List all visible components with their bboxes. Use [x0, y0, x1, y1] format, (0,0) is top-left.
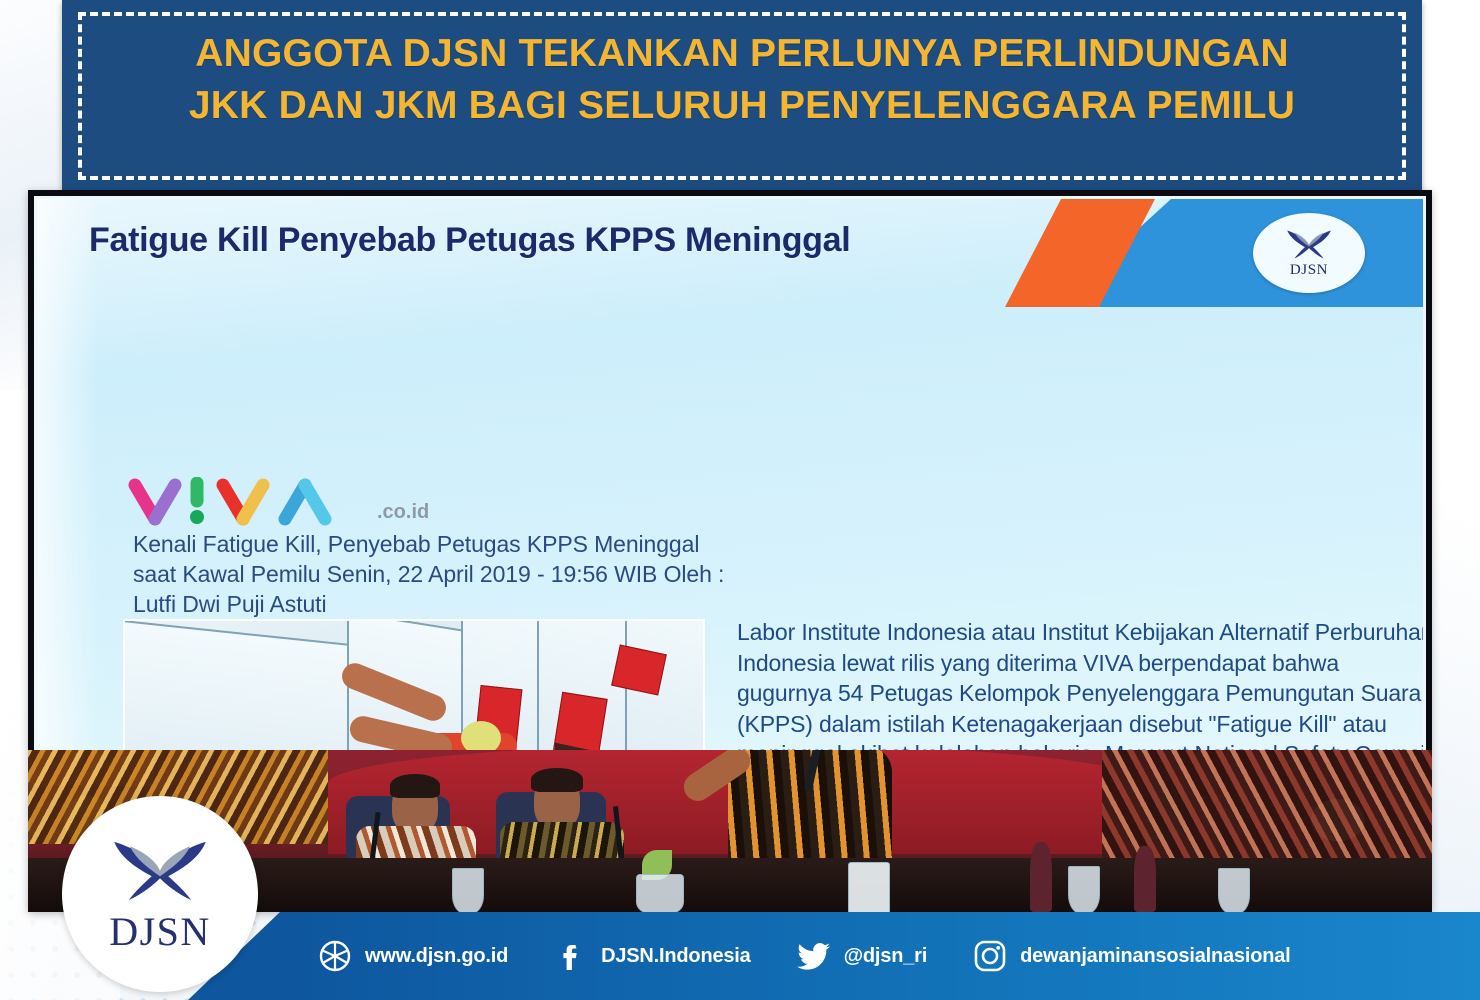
slide-caption-line-1: Kenali Fatigue Kill, Penyebab Petugas KP…: [133, 529, 833, 559]
presentation-slide: DJSN Fatigue Kill Penyebab Petugas KPPS …: [34, 196, 1426, 796]
slide-caption-line-2: saat Kawal Pemilu Senin, 22 April 2019 -…: [133, 559, 833, 589]
panelist-hair: [390, 774, 440, 798]
vase: [636, 874, 684, 912]
viva-logo: .co.id: [125, 477, 429, 527]
bottle: [1134, 846, 1156, 912]
djsn-wordmark: DJSN: [109, 908, 211, 955]
footer-item-twitter[interactable]: @djsn_ri: [797, 939, 927, 973]
drinking-glass: [1218, 868, 1250, 912]
footer-item-facebook[interactable]: DJSN.Indonesia: [554, 939, 750, 973]
tissue-box: [848, 862, 890, 912]
slide-djsn-wordmark: DJSN: [1290, 262, 1328, 279]
instagram-icon: [973, 939, 1007, 973]
djsn-logo-badge: DJSN: [62, 796, 258, 992]
slide-title: Fatigue Kill Penyebab Petugas KPPS Menin…: [89, 221, 850, 260]
bottle: [1030, 842, 1052, 912]
footer-label: www.djsn.go.id: [365, 945, 508, 968]
slide-djsn-logo: DJSN: [1253, 213, 1365, 293]
twitter-icon: [797, 939, 831, 973]
screen-glare: [37, 199, 99, 793]
viva-suffix: .co.id: [377, 501, 429, 524]
slide-caption: Kenali Fatigue Kill, Penyebab Petugas KP…: [133, 529, 833, 619]
footer-label: @djsn_ri: [844, 945, 927, 968]
page-title: ANGGOTA DJSN TEKANKAN PERLUNYA PERLINDUN…: [62, 28, 1422, 132]
header-banner: ANGGOTA DJSN TEKANKAN PERLUNYA PERLINDUN…: [62, 0, 1422, 192]
event-photograph: DJSN Fatigue Kill Penyebab Petugas KPPS …: [28, 190, 1432, 912]
slide-caption-line-3: Lutfi Dwi Puji Astuti: [133, 589, 833, 619]
footer-bar: www.djsn.go.id DJSN.Indonesia @djsn_ri: [280, 912, 1480, 1000]
viva-letters-icon: [125, 477, 375, 527]
drinking-glass: [1068, 866, 1100, 912]
poster-canvas: ANGGOTA DJSN TEKANKAN PERLUNYA PERLINDUN…: [0, 0, 1480, 1000]
panelist-hair: [531, 768, 583, 792]
djsn-cross-icon: [1283, 227, 1335, 261]
page-title-line-1: ANGGOTA DJSN TEKANKAN PERLUNYA PERLINDUN…: [108, 28, 1376, 80]
djsn-cross-icon: [108, 834, 212, 906]
footer-item-website[interactable]: www.djsn.go.id: [318, 939, 508, 973]
facebook-icon: [554, 939, 588, 973]
footer-item-instagram[interactable]: dewanjaminansosialnasional: [973, 939, 1290, 973]
page-title-line-2: JKK DAN JKM BAGI SELURUH PENYELENGGARA P…: [108, 80, 1376, 132]
drinking-glass: [452, 868, 484, 912]
footer-label: dewanjaminansosialnasional: [1020, 945, 1290, 968]
globe-icon: [318, 939, 352, 973]
footer-label: DJSN.Indonesia: [601, 945, 750, 968]
